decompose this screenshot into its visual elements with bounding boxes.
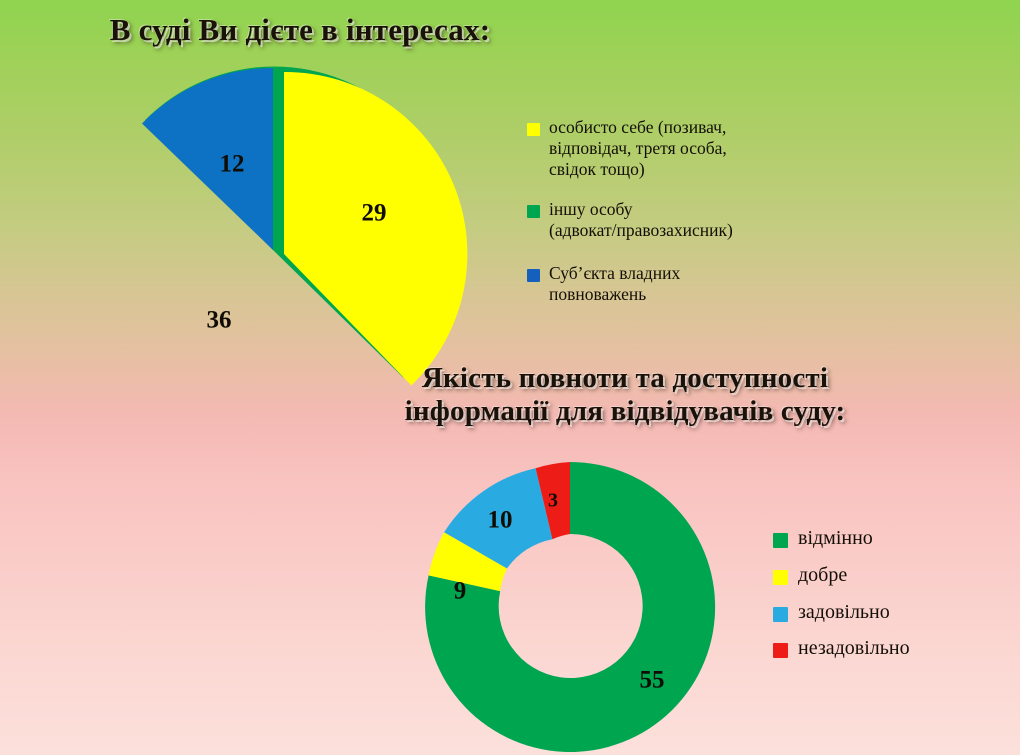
donut-slice-value-green: 55: [640, 667, 665, 694]
legend-item-label: незадовільно: [798, 637, 910, 661]
slide-canvas: В суді Ви дієте в інтересах: 29 36 12 ос…: [0, 0, 1020, 755]
chart-1-title: В суді Ви дієте в інтересах:: [0, 12, 600, 47]
pie-slice-value-green: 36: [207, 307, 232, 334]
legend-item-label: задовільно: [798, 601, 890, 625]
donut-chart-information-quality[interactable]: 55 9 10 3: [420, 455, 725, 755]
pie-slice-value-yellow: 29: [362, 200, 387, 227]
legend-swatch-red: [773, 643, 788, 658]
pie-slice-yellow[interactable]: [284, 72, 467, 385]
pie-slice-blue[interactable]: [142, 68, 273, 250]
chart-2-legend: відмінно добре задовільно незадовільно: [773, 527, 1003, 674]
chart-1-legend: особисто себе (позивач, відповідач, трет…: [527, 117, 827, 325]
legend-swatch-yellow: [527, 123, 540, 136]
legend-swatch-cyan: [773, 607, 788, 622]
legend-item-label: добре: [798, 564, 847, 588]
legend-swatch-green: [527, 205, 540, 218]
legend-item-label: особисто себе (позивач, відповідач, трет…: [549, 117, 727, 179]
legend-swatch-yellow: [773, 570, 788, 585]
legend-item[interactable]: незадовільно: [773, 637, 1003, 661]
legend-item[interactable]: особисто себе (позивач, відповідач, трет…: [527, 117, 827, 179]
donut-slice-value-red: 3: [548, 490, 558, 512]
donut-slice-value-cyan: 10: [488, 507, 513, 534]
chart-2-title: Якість повноти та доступності інформації…: [345, 362, 905, 428]
legend-item[interactable]: добре: [773, 564, 1003, 588]
pie-slice-yellow-group[interactable]: [284, 72, 467, 385]
legend-item-label: відмінно: [798, 527, 873, 551]
legend-item[interactable]: задовільно: [773, 601, 1003, 625]
legend-item-label: іншу особу (адвокат/правозахисник): [549, 199, 733, 241]
legend-swatch-blue: [527, 269, 540, 282]
donut-slice-value-yellow: 9: [454, 578, 467, 605]
legend-swatch-green: [773, 533, 788, 548]
legend-item[interactable]: іншу особу (адвокат/правозахисник): [527, 199, 827, 241]
pie-slice-value-blue: 12: [220, 151, 245, 178]
legend-item[interactable]: відмінно: [773, 527, 1003, 551]
legend-item[interactable]: Суб’єкта владних повноважень: [527, 263, 827, 305]
legend-item-label: Суб’єкта владних повноважень: [549, 263, 680, 305]
